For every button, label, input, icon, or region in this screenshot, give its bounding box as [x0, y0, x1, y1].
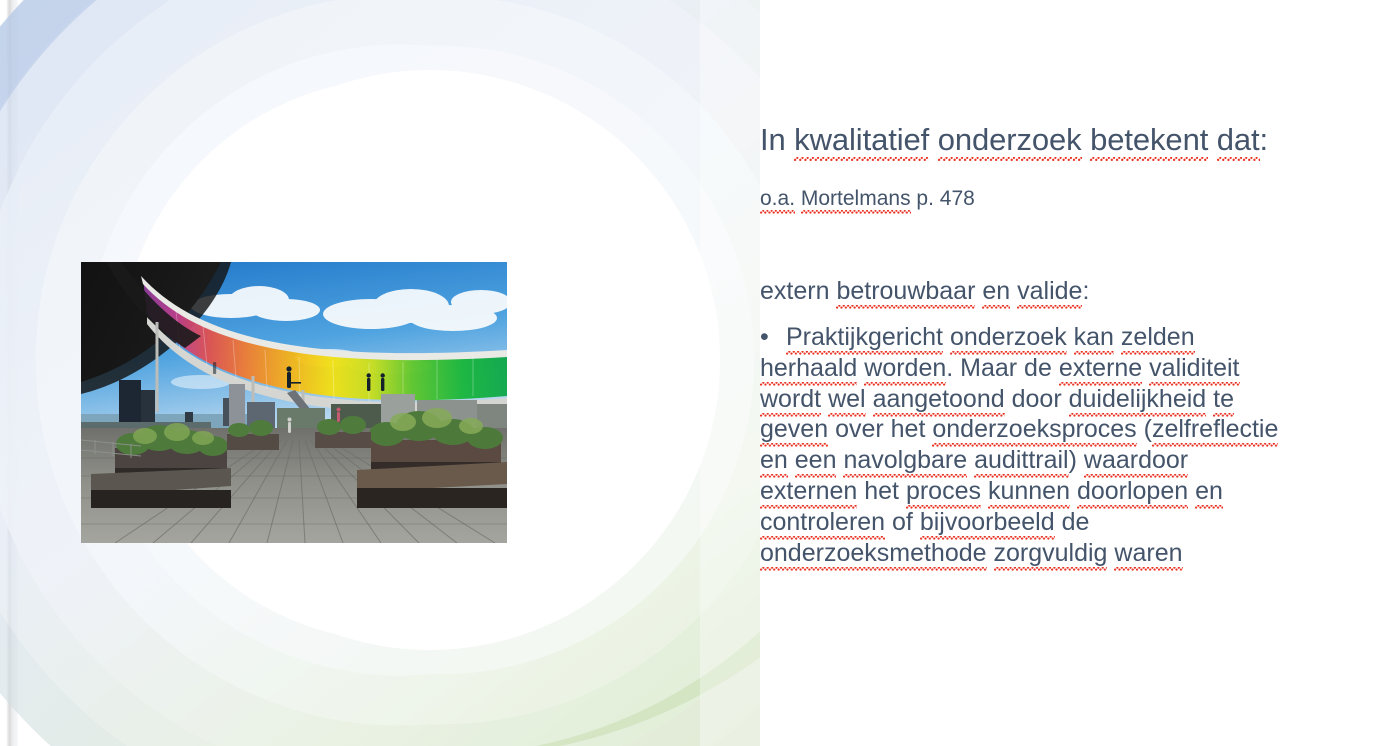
spellcheck-underlined-word: doorlopen [1077, 477, 1188, 509]
spellcheck-underlined-word: betrouwbaar [836, 277, 975, 309]
spellcheck-underlined-word: waren [1114, 539, 1182, 571]
spellcheck-underlined-word: bijvoorbeeld [920, 508, 1055, 540]
spellcheck-underlined-word: kan [1074, 323, 1114, 355]
spellcheck-underlined-word: geven [760, 415, 828, 447]
body-block: extern betrouwbaar en valide: •Praktijkg… [760, 274, 1290, 568]
spellcheck-underlined-word: controleren [760, 508, 885, 540]
spellcheck-underlined-word: zelden [1121, 323, 1195, 355]
spellcheck-underlined-word: onderzoeksproces [932, 415, 1136, 447]
bullet-paragraph-text: Praktijkgericht onderzoek kan zelden her… [760, 323, 1278, 571]
bullet-marker-icon: • [760, 322, 786, 353]
spellcheck-underlined-word: een [795, 446, 837, 478]
slide-source-reference: o.a. Mortelmans p. 478 [760, 184, 1300, 214]
slide-left-edge-shadow [0, 0, 18, 746]
spellcheck-underlined-word: externe [1059, 354, 1142, 386]
spellcheck-underlined-word: en [1195, 477, 1223, 509]
spellcheck-underlined-word: duidelijkheid [1069, 385, 1207, 417]
spellcheck-underlined-word: te [1213, 385, 1234, 417]
spellcheck-underlined-word: validiteit [1149, 354, 1239, 386]
spellcheck-underlined-word: aangetoond [873, 385, 1005, 417]
spellcheck-underlined-word: navolgbare [843, 446, 967, 478]
spellcheck-underlined-word: zelfreflectie [1152, 415, 1278, 447]
body-lead-heading: extern betrouwbaar en valide: [760, 274, 1290, 308]
spellcheck-underlined-word: herhaald [760, 354, 857, 386]
spellcheck-underlined-word: audittrail [974, 446, 1069, 478]
rainbow-panorama-photo [81, 262, 507, 543]
spellcheck-underlined-word: zorgvuldig [994, 539, 1108, 571]
spellcheck-underlined-word: en [982, 277, 1010, 309]
bullet-paragraph: •Praktijkgericht onderzoek kan zelden he… [760, 322, 1290, 568]
spellcheck-underlined-word: Praktijkgericht [786, 323, 943, 355]
spellcheck-underlined-word: waardoor [1084, 446, 1188, 478]
spellcheck-underlined-word: wordt [760, 385, 821, 417]
spellcheck-underlined-word: o.a. [760, 187, 795, 214]
spellcheck-underlined-word: onderzoek [950, 323, 1067, 355]
spellcheck-underlined-word: kunnen [988, 477, 1070, 509]
spellcheck-underlined-word: onderzoeksmethode [760, 539, 987, 571]
spellcheck-underlined-word: worden [864, 354, 946, 386]
spellcheck-underlined-word: proces [906, 477, 981, 509]
spellcheck-underlined-word: Mortelmans [801, 187, 911, 214]
spellcheck-underlined-word: betekent [1090, 122, 1208, 162]
spellcheck-underlined-word: valide [1017, 277, 1082, 309]
spellcheck-underlined-word: onderzoek [938, 122, 1082, 162]
spellcheck-underlined-word: wel [828, 385, 866, 417]
slide-title: In kwalitatief onderzoek betekent dat: [760, 118, 1300, 162]
spellcheck-underlined-word: en [760, 446, 788, 478]
spellcheck-underlined-word: kwalitatief [794, 122, 929, 162]
title-block: In kwalitatief onderzoek betekent dat: o… [760, 118, 1300, 214]
slide-canvas: In kwalitatief onderzoek betekent dat: o… [0, 0, 1378, 746]
text-column: In kwalitatief onderzoek betekent dat: o… [760, 0, 1300, 746]
spellcheck-underlined-word: externen [760, 477, 857, 509]
spellcheck-underlined-word: dat [1217, 122, 1260, 162]
